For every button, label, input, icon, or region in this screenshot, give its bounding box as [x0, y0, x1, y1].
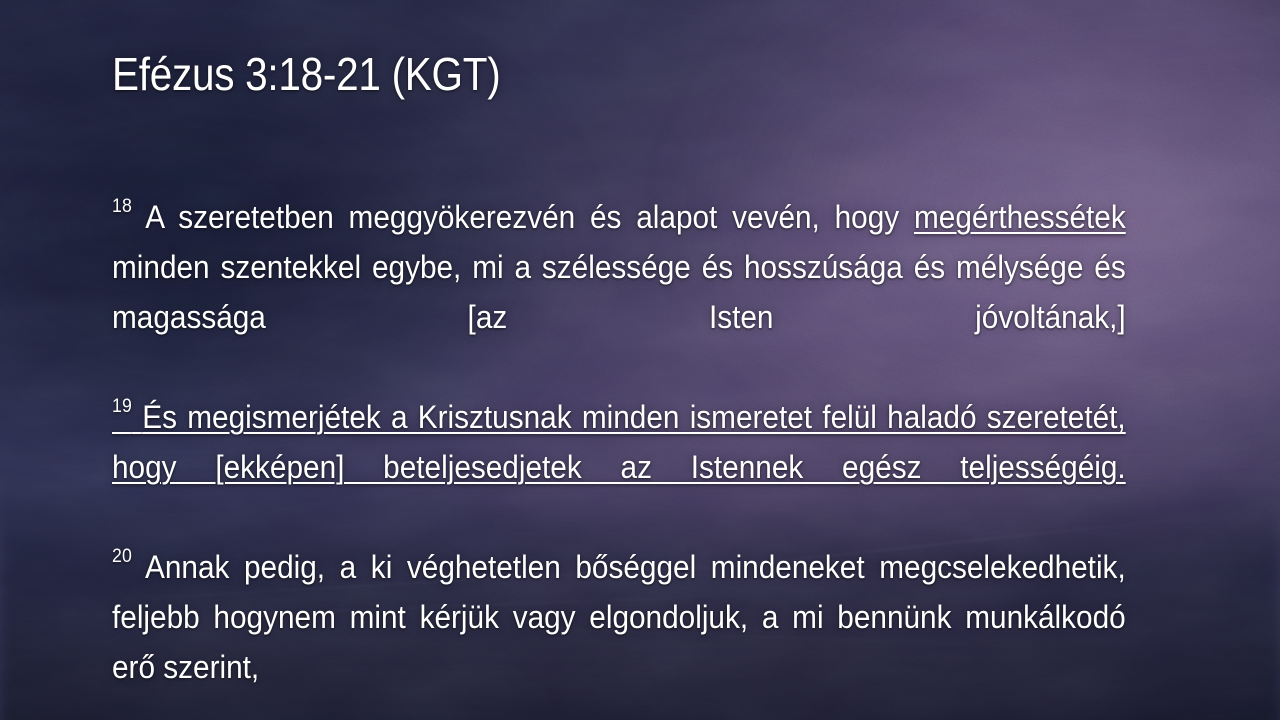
slide-title: Efézus 3:18-21 (KGT) [112, 47, 500, 101]
verse-18-part-2: minden szentekkel egybe, mi a szélessége… [112, 249, 1126, 335]
verse-18-underlined-phrase: megérthessétek [914, 199, 1126, 235]
verse-18: 18 A szeretetben meggyökerezvén és alapo… [112, 192, 1126, 392]
verse-18-part-1: A szeretetben meggyökerezvén és alapot v… [145, 199, 914, 235]
verse-19-text: És megismerjétek a Krisztusnak minden is… [112, 399, 1126, 485]
verse-20: 20 Annak pedig, a ki véghetetlen bőségge… [112, 542, 1126, 692]
verse-number-20: 20 [112, 546, 132, 567]
verse-20-text: Annak pedig, a ki véghetetlen bőséggel m… [112, 549, 1126, 685]
scripture-body: 18 A szeretetben meggyökerezvén és alapo… [112, 192, 1126, 692]
verse-19: 19 És megismerjétek a Krisztusnak minden… [112, 392, 1126, 542]
slide-content: Efézus 3:18-21 (KGT) 18 A szeretetben me… [0, 0, 1280, 720]
verse-number-18: 18 [112, 196, 132, 217]
verse-number-19: 19 [112, 396, 132, 417]
presentation-slide: Efézus 3:18-21 (KGT) 18 A szeretetben me… [0, 0, 1280, 720]
